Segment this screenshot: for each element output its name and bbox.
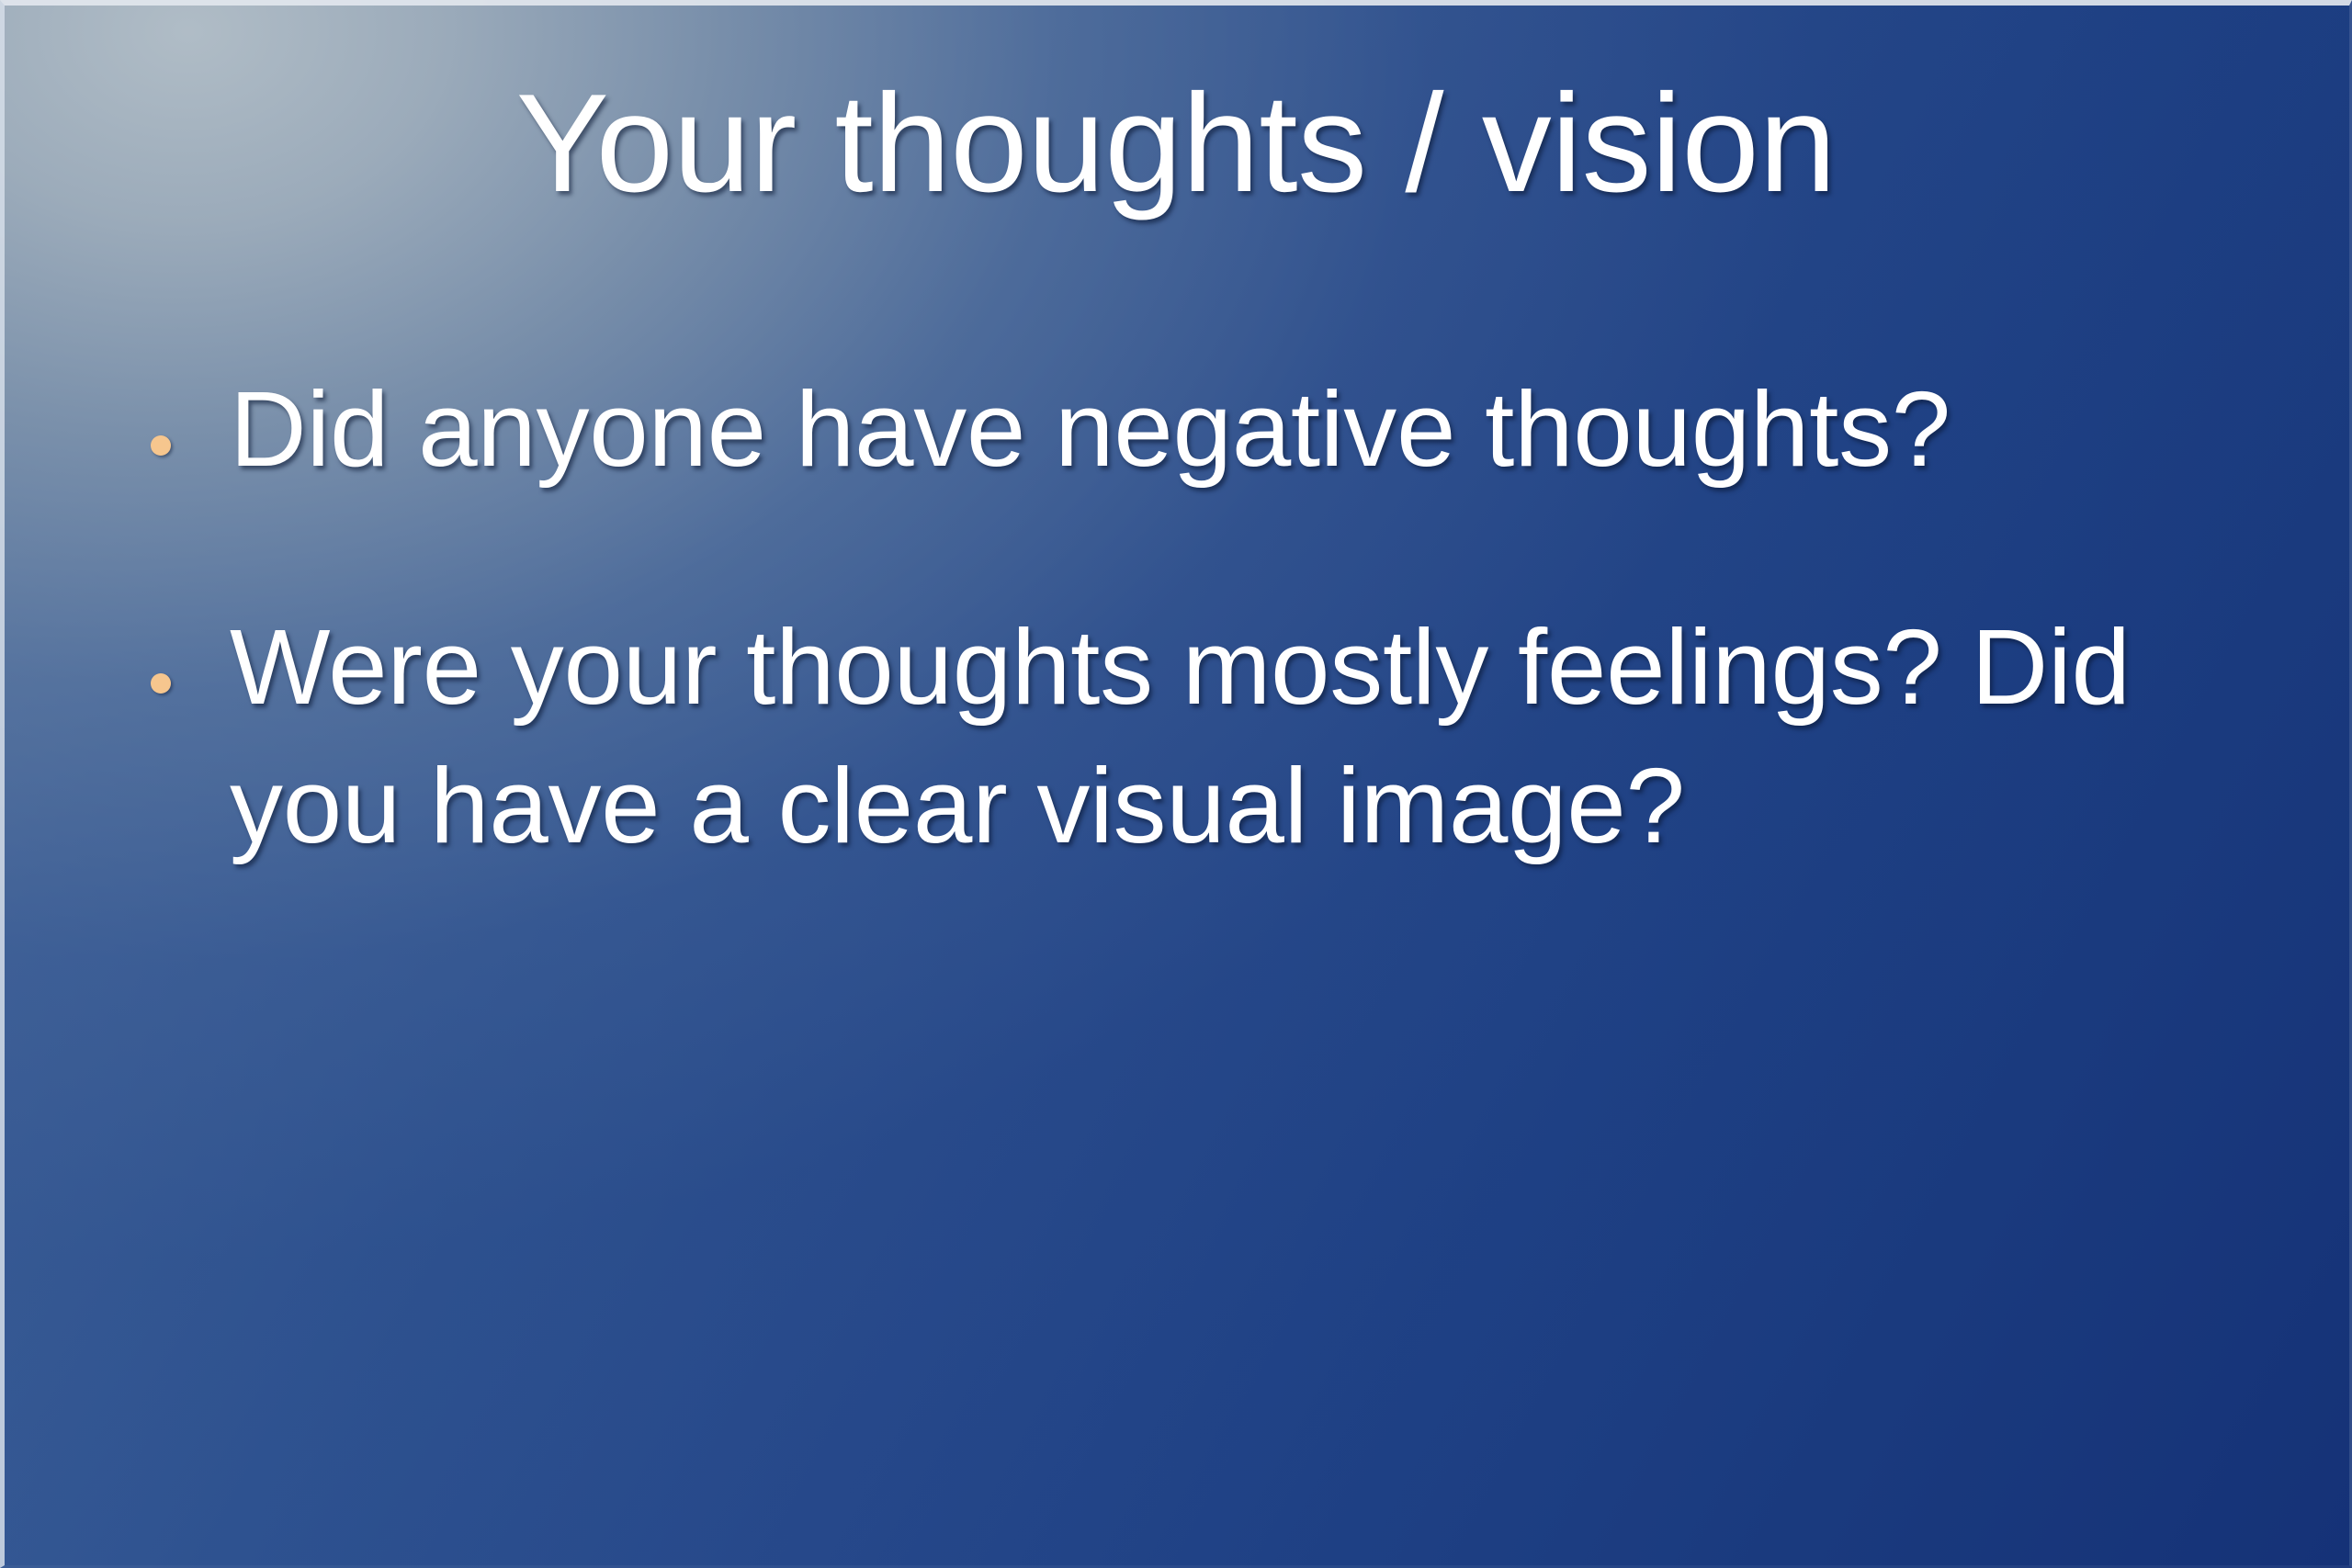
presentation-slide: Your thoughts / vision Did anyone have n…	[0, 0, 2352, 1568]
list-item: Were your thoughts mostly feelings? Did …	[129, 598, 2278, 875]
bullet-text: Did anyone have negative thoughts?	[230, 360, 2251, 499]
bullet-list: Did anyone have negative thoughts? Were …	[129, 360, 2278, 874]
slide-title: Your thoughts / vision	[0, 68, 2352, 219]
bullet-text: Were your thoughts mostly feelings? Did …	[230, 598, 2251, 875]
bullet-dot-icon	[151, 435, 171, 456]
bullet-dot-icon	[151, 673, 171, 694]
list-item: Did anyone have negative thoughts?	[129, 360, 2278, 499]
